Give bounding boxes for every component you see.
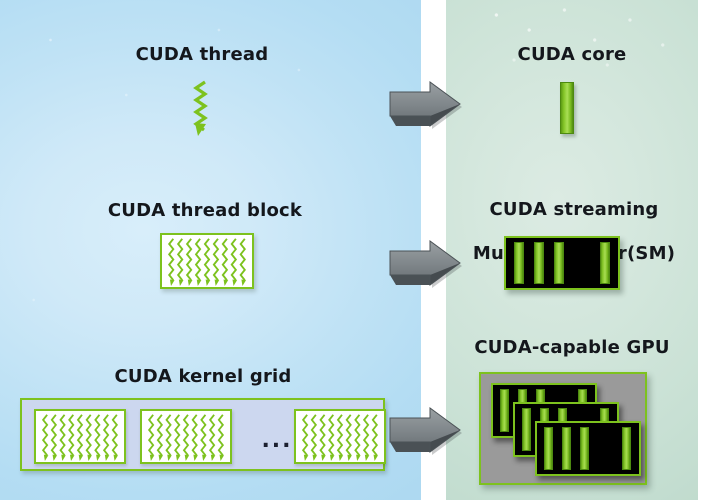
gpu-icon	[479, 372, 647, 485]
sm-core-bar	[544, 427, 553, 470]
label-cuda-kernel-grid: CUDA kernel grid	[53, 366, 353, 388]
kernel-grid-block	[140, 409, 232, 464]
sm-core-bar	[522, 408, 531, 451]
label-cuda-core: CUDA core	[452, 44, 692, 66]
maps-to-arrow-icon-thread	[389, 79, 465, 135]
kernel-grid-icon: ...	[20, 398, 385, 471]
label-cuda-thread-block: CUDA thread block	[55, 200, 355, 222]
sm-core-bar	[600, 242, 610, 284]
sm-core-bar	[562, 427, 571, 470]
sm-core-bar	[500, 389, 509, 432]
sm-core-bar	[534, 242, 544, 284]
gpu-sm-panel	[535, 421, 641, 476]
sm-core-bar	[514, 242, 524, 284]
kernel-grid-ellipsis: ...	[258, 430, 296, 452]
sm-label-line-1: CUDA streaming	[490, 199, 659, 220]
squiggle-thread-icon	[189, 80, 215, 138]
sm-core-bar	[622, 427, 631, 470]
kernel-grid-block	[34, 409, 126, 464]
label-cuda-capable-gpu: CUDA-capable GPU	[447, 337, 697, 359]
streaming-multiprocessor-icon	[504, 236, 620, 290]
sm-core-bar	[580, 427, 589, 470]
thread-block-icon	[160, 233, 254, 289]
kernel-grid-block	[294, 409, 386, 464]
green-bar-core-icon	[560, 82, 574, 134]
label-cuda-thread: CUDA thread	[72, 44, 332, 66]
cuda-mapping-diagram: CUDA thread	[0, 0, 713, 500]
sm-core-bar	[554, 242, 564, 284]
maps-to-arrow-icon-grid	[389, 405, 465, 461]
